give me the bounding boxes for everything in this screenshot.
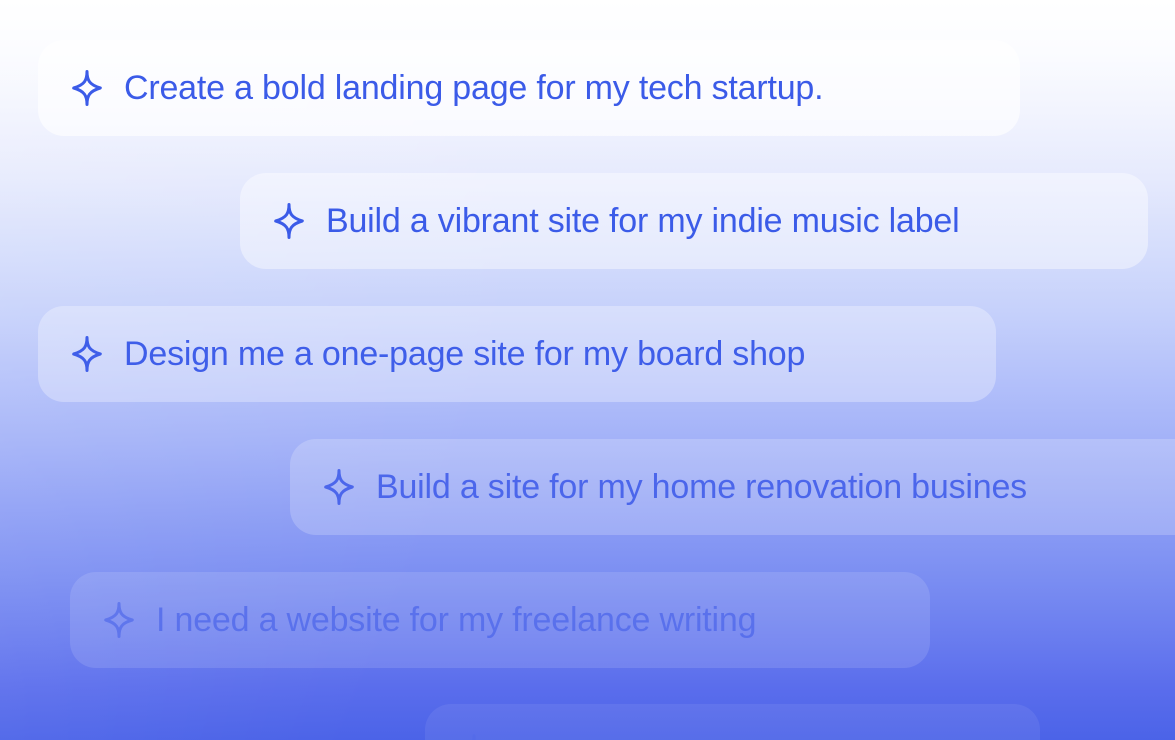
suggestion-label: Create a bold landing page for my tech s… [124, 71, 823, 105]
suggestion-pill-6[interactable] [425, 704, 1040, 740]
sparkle-icon [100, 601, 138, 639]
suggestion-pill-4[interactable]: Build a site for my home renovation busi… [290, 439, 1175, 535]
suggestion-marquee: Create a bold landing page for my tech s… [0, 0, 1175, 740]
suggestion-label: Build a vibrant site for my indie music … [326, 204, 960, 238]
suggestion-label: Build a site for my home renovation busi… [376, 470, 1027, 504]
suggestion-pill-2[interactable]: Build a vibrant site for my indie music … [240, 173, 1148, 269]
suggestion-label: Design me a one-page site for my board s… [124, 337, 805, 371]
sparkle-icon [68, 335, 106, 373]
suggestion-pill-1[interactable]: Create a bold landing page for my tech s… [38, 40, 1020, 136]
sparkle-icon [455, 733, 493, 740]
sparkle-icon [320, 468, 358, 506]
suggestion-label: I need a website for my freelance writin… [156, 603, 756, 637]
sparkle-icon [68, 69, 106, 107]
suggestion-pill-3[interactable]: Design me a one-page site for my board s… [38, 306, 996, 402]
suggestion-pill-5[interactable]: I need a website for my freelance writin… [70, 572, 930, 668]
sparkle-icon [270, 202, 308, 240]
